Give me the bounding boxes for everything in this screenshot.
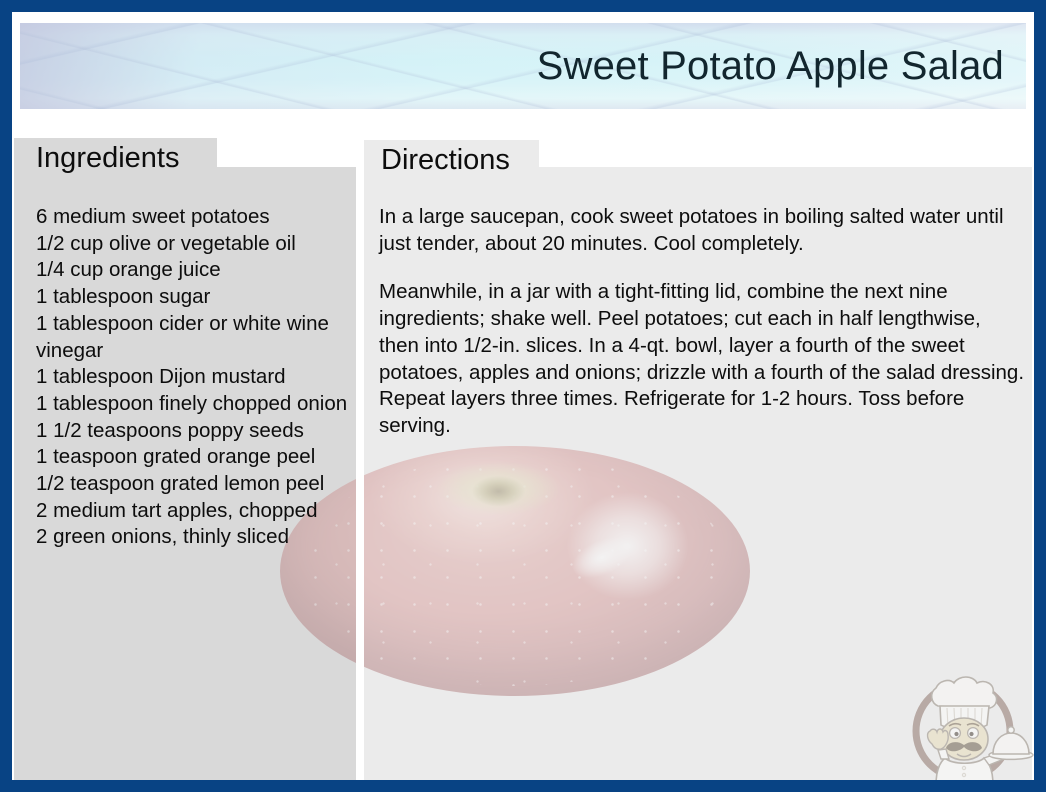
ingredients-section-tab: Ingredients <box>14 138 217 178</box>
directions-heading: Directions <box>381 144 510 177</box>
ingredients-heading: Ingredients <box>36 142 180 175</box>
list-item: 2 green onions, thinly sliced <box>36 524 356 551</box>
list-item: 1 1/2 teaspoons poppy seeds <box>36 418 356 445</box>
list-item: 1 tablespoon Dijon mustard <box>36 364 356 391</box>
directions-body: In a large saucepan, cook sweet potatoes… <box>379 204 1024 440</box>
list-item: 1/2 cup olive or vegetable oil <box>36 231 356 258</box>
list-item: 6 medium sweet potatoes <box>36 204 356 231</box>
recipe-card: Sweet Potato Apple Salad Ingredients Dir… <box>0 0 1046 792</box>
column-divider <box>356 167 364 784</box>
list-item: 1/2 teaspoon grated lemon peel <box>36 471 356 498</box>
direction-paragraph: Meanwhile, in a jar with a tight-fitting… <box>379 279 1024 439</box>
list-item: 1/4 cup orange juice <box>36 257 356 284</box>
directions-section-tab: Directions <box>364 140 539 180</box>
page-title: Sweet Potato Apple Salad <box>537 44 1026 89</box>
list-item: 1 tablespoon sugar <box>36 284 356 311</box>
title-banner: Sweet Potato Apple Salad <box>20 23 1026 109</box>
list-item: 2 medium tart apples, chopped <box>36 498 356 525</box>
list-item: 1 tablespoon cider or white wine <box>36 311 356 338</box>
direction-paragraph: In a large saucepan, cook sweet potatoes… <box>379 204 1024 257</box>
ingredients-list: 6 medium sweet potatoes 1/2 cup olive or… <box>36 204 356 551</box>
list-item: 1 tablespoon finely chopped onion <box>36 391 356 418</box>
list-item: vinegar <box>36 338 356 365</box>
list-item: 1 teaspoon grated orange peel <box>36 444 356 471</box>
